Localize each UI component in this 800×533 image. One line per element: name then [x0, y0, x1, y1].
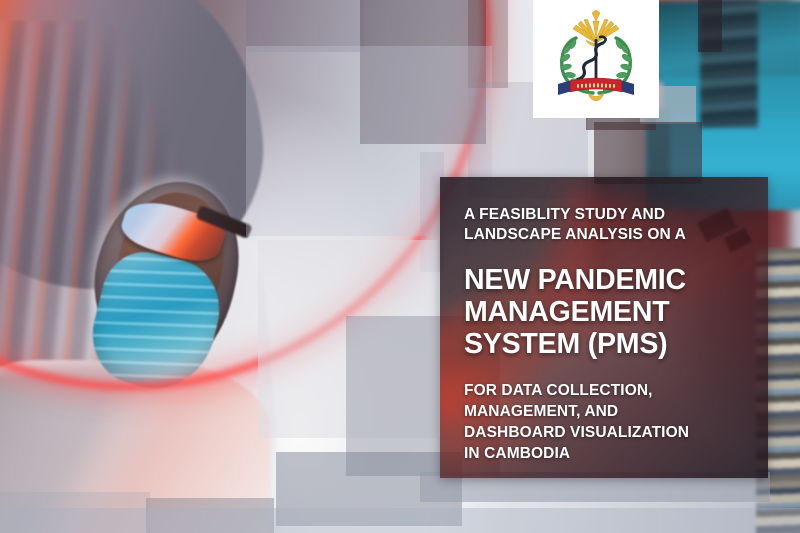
subtitle-line: IN CAMBODIA	[464, 443, 746, 464]
title-line: NEW PANDEMIC	[464, 265, 746, 297]
eyebrow-line: LANDSCAPE ANALYSIS ON A	[464, 225, 746, 245]
geometric-rectangle	[594, 122, 702, 184]
title-line: SYSTEM (PMS)	[464, 329, 746, 361]
logo-card	[533, 0, 659, 118]
cover-subtitle: FOR DATA COLLECTION, MANAGEMENT, AND DAS…	[464, 380, 746, 465]
cambodia-ministry-of-health-emblem-icon	[546, 9, 646, 109]
geometric-rectangle	[698, 0, 722, 52]
title-line: MANAGEMENT	[464, 297, 746, 329]
subtitle-line: DASHBOARD VISUALIZATION	[464, 422, 746, 443]
cover-eyebrow: A FEASIBLITY STUDY AND LANDSCAPE ANALYSI…	[464, 205, 746, 246]
title-panel-content: A FEASIBLITY STUDY AND LANDSCAPE ANALYSI…	[440, 177, 768, 465]
subtitle-line: MANAGEMENT, AND	[464, 401, 746, 422]
report-cover-image: A FEASIBLITY STUDY AND LANDSCAPE ANALYSI…	[0, 0, 800, 533]
geometric-rectangle	[246, 0, 364, 52]
eyebrow-line: A FEASIBLITY STUDY AND	[464, 205, 746, 225]
geometric-bottom-band	[0, 508, 800, 533]
subtitle-line: FOR DATA COLLECTION,	[464, 380, 746, 401]
title-panel: A FEASIBLITY STUDY AND LANDSCAPE ANALYSI…	[440, 177, 768, 478]
cover-title: NEW PANDEMIC MANAGEMENT SYSTEM (PMS)	[464, 265, 746, 361]
